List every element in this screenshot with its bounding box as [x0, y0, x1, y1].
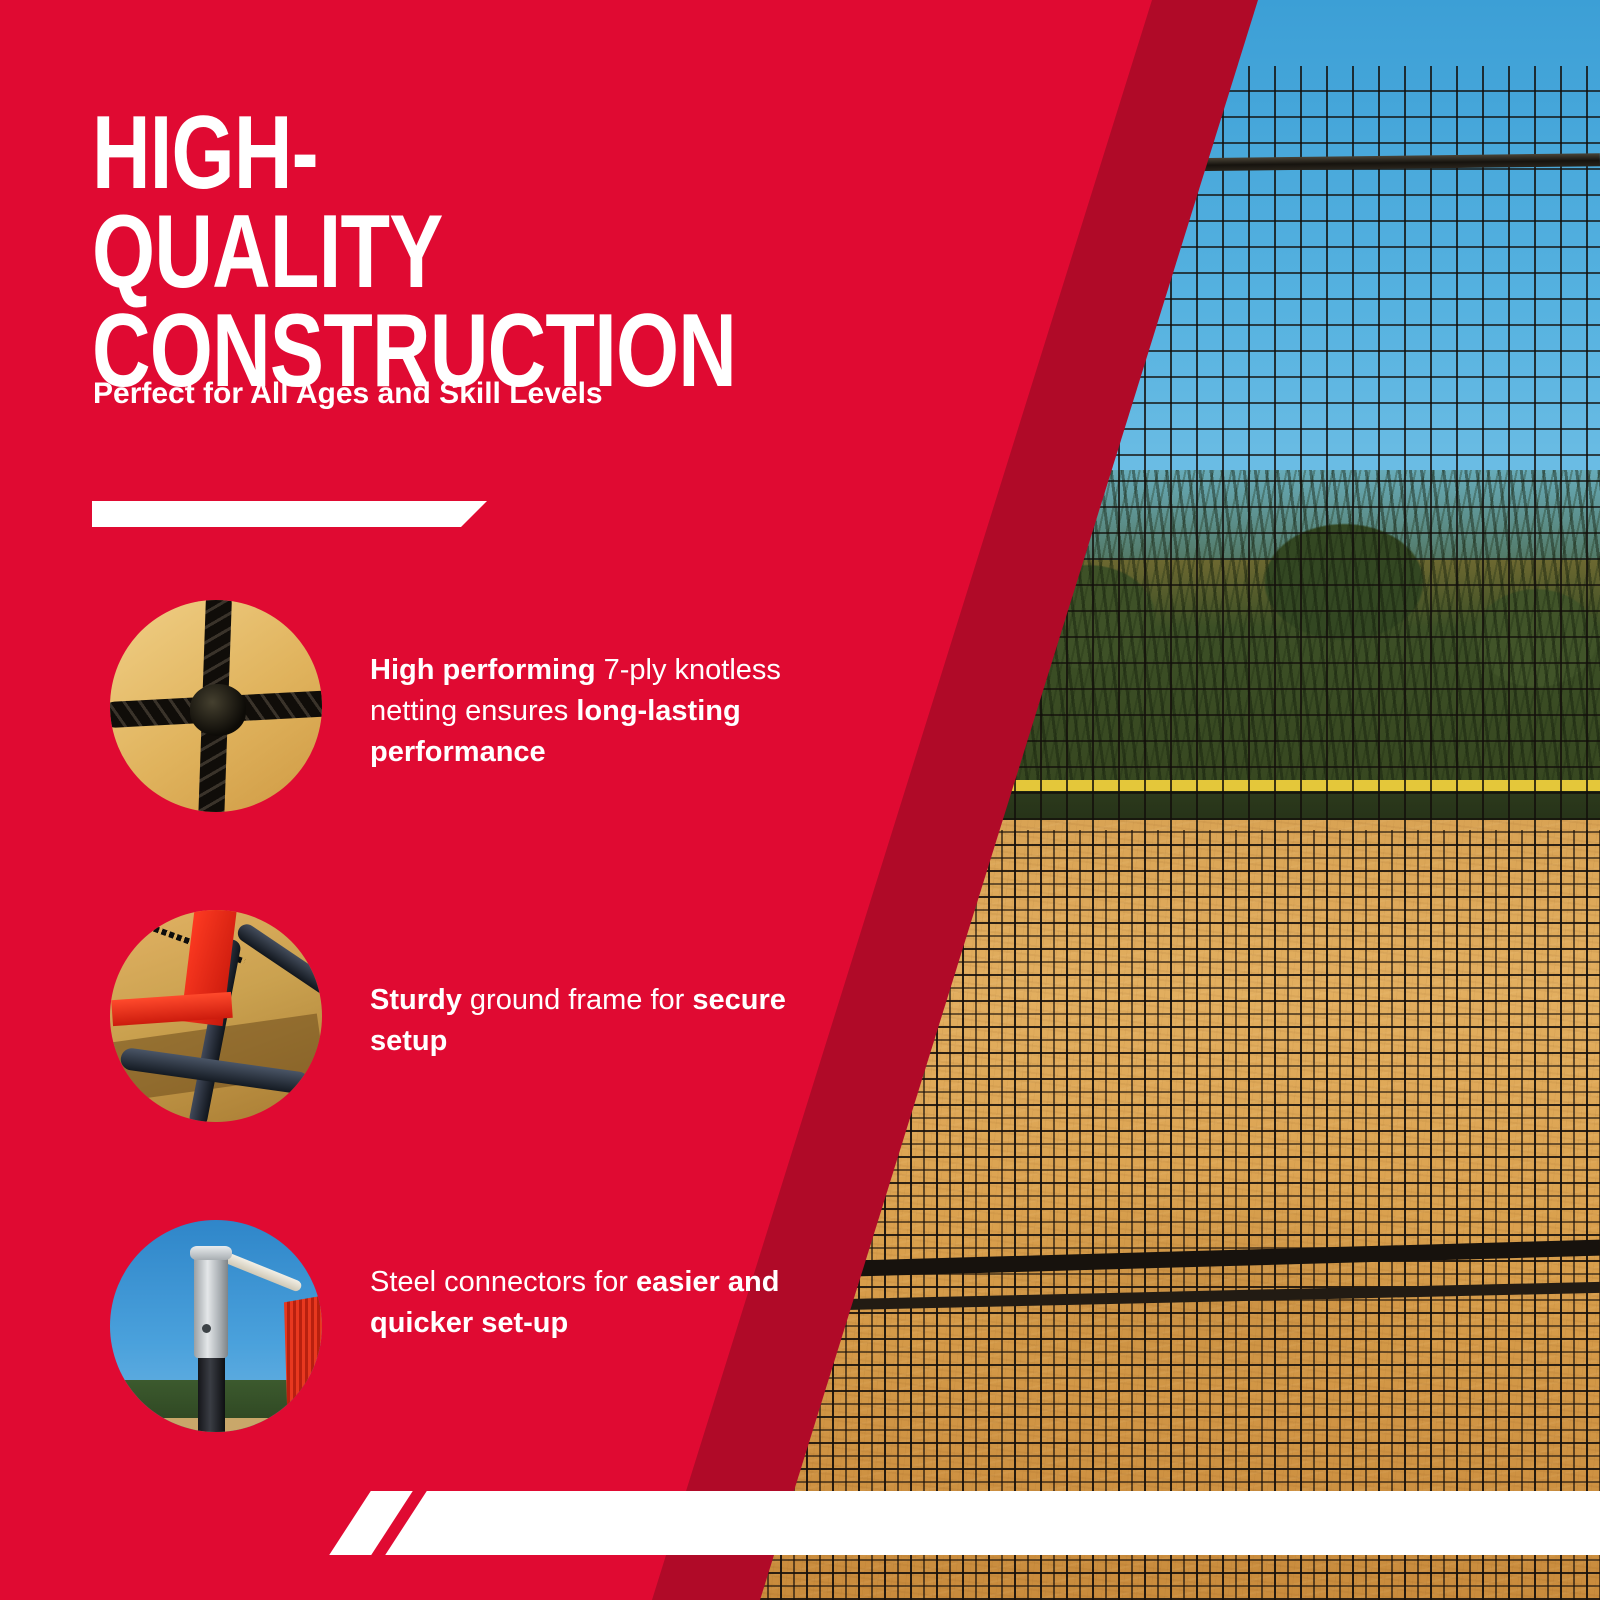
ground-frame-strap-thumbnail-icon — [110, 910, 322, 1122]
steel-connector-thumbnail-icon — [110, 1220, 322, 1432]
feature-text-normal: Steel connectors for — [370, 1266, 636, 1298]
red-net — [284, 1294, 322, 1432]
feature-text-normal: ground frame for — [470, 984, 692, 1016]
headline-line-1: HIGH-QUALITY — [92, 104, 638, 302]
bolt — [202, 1324, 211, 1333]
infographic-canvas: HIGH-QUALITY CONSTRUCTION Perfect for Al… — [0, 0, 1600, 1600]
angled-white-rule — [92, 501, 487, 527]
feature-text: Sturdy ground frame for secure setup — [370, 980, 840, 1062]
feature-text: Steel connectors for easier and quicker … — [370, 1262, 840, 1344]
black-pole — [198, 1350, 225, 1432]
page-title: HIGH-QUALITY CONSTRUCTION — [92, 104, 638, 400]
steel-connector-cap — [190, 1246, 232, 1260]
netting-knot-thumbnail-icon — [110, 600, 322, 812]
frame-pole — [234, 921, 322, 997]
feature-item: Steel connectors for easier and quicker … — [92, 1220, 852, 1460]
white-rope — [219, 1250, 303, 1292]
feature-item: High performing 7-ply knotless netting e… — [92, 600, 852, 840]
feature-item: Sturdy ground frame for secure setup — [92, 910, 852, 1150]
content-column: HIGH-QUALITY CONSTRUCTION Perfect for Al… — [0, 0, 900, 1600]
steel-connector — [194, 1252, 228, 1358]
feature-text-strong: Sturdy — [370, 984, 470, 1016]
feature-text-strong: High performing — [370, 654, 604, 686]
subtitle: Perfect for All Ages and Skill Levels — [93, 375, 663, 413]
feature-text: High performing 7-ply knotless netting e… — [370, 650, 840, 774]
rope-knot — [190, 684, 246, 736]
